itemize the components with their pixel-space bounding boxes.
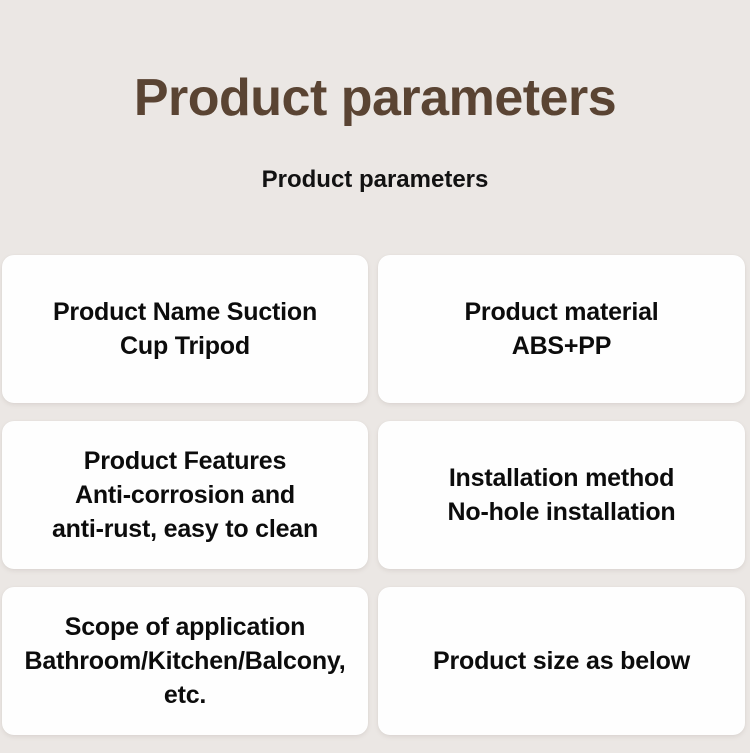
parameter-card-text: Product Features Anti-corrosion and anti… [2,444,368,546]
parameter-card-installation-method: Installation method No-hole installation [378,421,745,569]
parameter-card-product-material: Product material ABS+PP [378,255,745,403]
parameter-card-product-features: Product Features Anti-corrosion and anti… [2,421,368,569]
parameter-card-text: Product Name Suction Cup Tripod [2,295,368,363]
parameters-row: Scope of application Bathroom/Kitchen/Ba… [0,587,750,735]
parameter-card-scope-of-application: Scope of application Bathroom/Kitchen/Ba… [2,587,368,735]
parameter-card-text: Product size as below [378,644,745,678]
page-subtitle: Product parameters [0,166,750,195]
product-parameters-page: Product parameters Product parameters Pr… [0,0,750,750]
page-title: Product parameters [0,72,750,124]
page-header: Product parameters Product parameters [0,0,750,250]
parameters-row: Product Name Suction Cup Tripod Product … [0,255,750,403]
parameter-card-text: Scope of application Bathroom/Kitchen/Ba… [2,610,368,712]
parameter-card-text: Installation method No-hole installation [378,461,745,529]
parameter-card-text: Product material ABS+PP [378,295,745,363]
parameters-grid: Product Name Suction Cup Tripod Product … [0,255,750,753]
parameter-card-product-name: Product Name Suction Cup Tripod [2,255,368,403]
parameters-row: Product Features Anti-corrosion and anti… [0,421,750,569]
parameter-card-product-size: Product size as below [378,587,745,735]
